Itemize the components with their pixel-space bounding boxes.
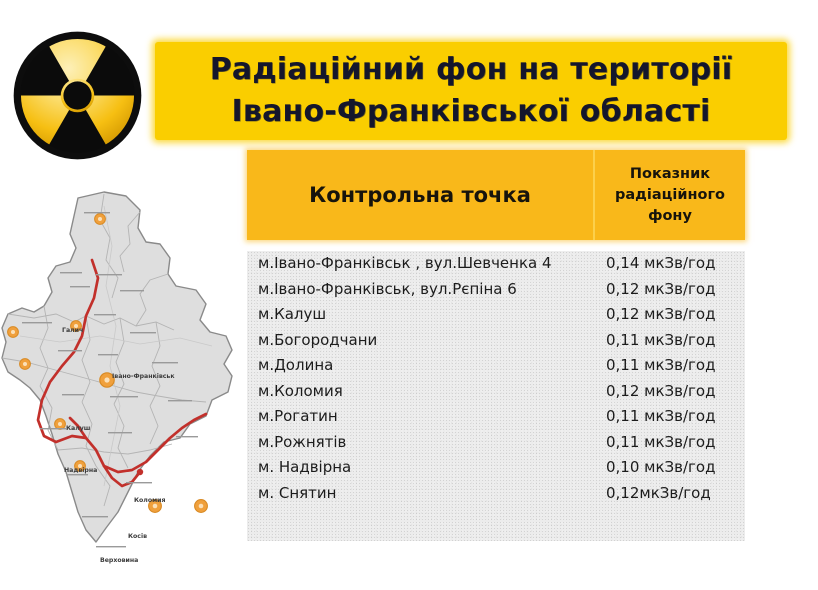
table-row: м.Калуш 0,12 мкЗв/год xyxy=(247,305,745,331)
table-body: м.Івано-Франківськ , вул.Шевченка 4 0,14… xyxy=(247,251,745,541)
column-header-line-2: радіаційного xyxy=(615,185,725,206)
cell-radiation-value: 0,11 мкЗв/год xyxy=(606,407,745,425)
table-row: м.Івано-Франківськ , вул.Шевченка 4 0,14… xyxy=(247,254,745,280)
svg-text:Верховина: Верховина xyxy=(100,557,138,564)
cell-control-point: м.Долина xyxy=(258,356,606,374)
svg-text:Галич: Галич xyxy=(62,327,83,334)
column-header-line-1: Показник xyxy=(615,164,725,185)
table-header-row: Контрольна точка Показник радіаційного ф… xyxy=(247,150,745,240)
cell-radiation-value: 0,14 мкЗв/год xyxy=(606,254,745,272)
column-header-radiation-value: Показник радіаційного фону xyxy=(595,150,745,240)
svg-text:Івано-Франківськ: Івано-Франківськ xyxy=(112,372,175,380)
map-marker xyxy=(195,500,208,513)
map-marker xyxy=(8,327,19,338)
cell-control-point: м.Рожнятів xyxy=(258,433,606,451)
page-title-line-2: Івано-Франківської області xyxy=(232,91,711,133)
map-marker xyxy=(20,359,31,370)
cell-control-point: м.Коломия xyxy=(258,382,606,400)
column-header-control-point: Контрольна точка xyxy=(247,150,595,240)
cell-control-point: м. Надвірна xyxy=(258,458,606,476)
table-row: м. Надвірна 0,10 мкЗв/год xyxy=(247,458,745,484)
cell-radiation-value: 0,10 мкЗв/год xyxy=(606,458,745,476)
cell-control-point: м.Богородчани xyxy=(258,331,606,349)
cell-radiation-value: 0,11 мкЗв/год xyxy=(606,433,745,451)
svg-text:Надвірна: Надвірна xyxy=(64,466,97,474)
svg-text:Калуш: Калуш xyxy=(66,425,91,432)
table-row: м.Коломия 0,12 мкЗв/год xyxy=(247,382,745,408)
svg-text:Коломия: Коломия xyxy=(134,497,165,504)
cell-control-point: м.Івано-Франківськ , вул.Шевченка 4 xyxy=(258,254,606,272)
svg-text:Косів: Косів xyxy=(128,532,147,540)
cell-radiation-value: 0,12 мкЗв/год xyxy=(606,280,745,298)
cell-radiation-value: 0,12 мкЗв/год xyxy=(606,305,745,323)
cell-radiation-value: 0,12 мкЗв/год xyxy=(606,382,745,400)
table-row: м.Богородчани 0,11 мкЗв/год xyxy=(247,331,745,357)
radiation-background-slide: Радіаційний фон на території Івано-Франк… xyxy=(0,0,818,590)
title-banner: Радіаційний фон на території Івано-Франк… xyxy=(155,42,787,140)
cell-control-point: м.Івано-Франківськ, вул.Рєпіна 6 xyxy=(258,280,606,298)
radiation-trefoil-icon xyxy=(11,29,144,162)
map-marker xyxy=(95,214,106,225)
cell-control-point: м.Рогатин xyxy=(258,407,606,425)
page-title-line-1: Радіаційний фон на території xyxy=(210,49,733,91)
cell-control-point: м. Снятин xyxy=(258,484,606,502)
table-row: м.Івано-Франківськ, вул.Рєпіна 6 0,12 мк… xyxy=(247,280,745,306)
cell-control-point: м.Калуш xyxy=(258,305,606,323)
cell-radiation-value: 0,11 мкЗв/год xyxy=(606,331,745,349)
column-header-line-3: фону xyxy=(615,206,725,227)
ivano-frankivsk-oblast-map: Галич Івано-Франківськ Калуш Надвірна Ко… xyxy=(0,186,240,574)
table-row: м.Рожнятів 0,11 мкЗв/год xyxy=(247,433,745,459)
map-marker xyxy=(55,419,66,430)
table-row: м.Долина 0,11 мкЗв/год xyxy=(247,356,745,382)
column-header-radiation-value-text: Показник радіаційного фону xyxy=(615,164,725,227)
table-row: м. Снятин 0,12мкЗв/год xyxy=(247,484,745,510)
table-row: м.Рогатин 0,11 мкЗв/год xyxy=(247,407,745,433)
cell-radiation-value: 0,12мкЗв/год xyxy=(606,484,745,502)
cell-radiation-value: 0,11 мкЗв/год xyxy=(606,356,745,374)
radiation-measurements-table: Контрольна точка Показник радіаційного ф… xyxy=(247,150,745,541)
